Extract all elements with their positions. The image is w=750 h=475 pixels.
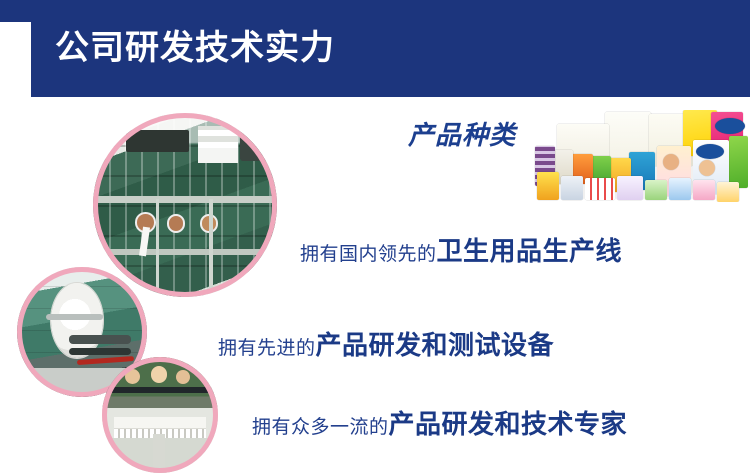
product-pack-baby-face	[699, 160, 715, 176]
machine-detail	[153, 434, 165, 469]
machine-detail	[167, 214, 186, 233]
product-collage-image	[533, 110, 748, 202]
product-category-heading: 产品种类	[408, 115, 516, 152]
product-pack	[693, 180, 715, 200]
machine-detail	[198, 126, 238, 163]
caption-lead-text: 拥有先进的	[218, 337, 316, 359]
worker-figure	[176, 370, 190, 384]
machine-detail	[69, 348, 131, 356]
caption-line-2: 拥有先进的产品研发和测试设备	[218, 325, 554, 362]
product-pack	[729, 136, 748, 188]
caption-line-1: 拥有国内领先的卫生用品生产线	[300, 231, 622, 268]
caption-strong-text: 卫生用品生产线	[437, 237, 623, 267]
worker-figure	[125, 369, 140, 384]
machine-detail	[209, 199, 213, 287]
caption-lead-text: 拥有国内领先的	[300, 243, 437, 265]
product-pack	[585, 178, 615, 200]
slide-root: 公司研发技术实力	[0, 0, 750, 475]
machine-detail	[156, 199, 160, 287]
product-pack	[645, 180, 667, 200]
product-pack	[537, 172, 559, 200]
header-left-notch	[0, 22, 31, 97]
caption-strong-text: 产品研发和技术专家	[389, 410, 628, 440]
machine-detail	[46, 314, 103, 321]
machine-detail	[51, 283, 103, 358]
photo-circle-workers	[102, 357, 218, 473]
product-pack	[561, 176, 583, 200]
machine-detail	[102, 387, 218, 393]
product-pack	[617, 176, 643, 200]
machine-detail	[97, 196, 274, 203]
worker-figure	[151, 366, 167, 382]
product-pack	[669, 178, 691, 200]
caption-lead-text: 拥有众多一流的	[252, 416, 389, 438]
machine-detail	[240, 131, 269, 160]
caption-strong-text: 产品研发和测试设备	[316, 331, 555, 361]
product-pack	[717, 182, 739, 202]
machine-detail	[69, 335, 131, 344]
brand-logo-dry-pro	[715, 118, 745, 134]
caption-line-3: 拥有众多一流的产品研发和技术专家	[252, 404, 627, 441]
machine-detail	[126, 130, 189, 152]
brand-logo-dry-pro	[696, 144, 724, 159]
machine-detail	[97, 249, 274, 255]
page-title: 公司研发技术实力	[55, 18, 335, 78]
product-pack-baby-face	[663, 154, 679, 170]
photo-workers-image	[102, 357, 218, 473]
